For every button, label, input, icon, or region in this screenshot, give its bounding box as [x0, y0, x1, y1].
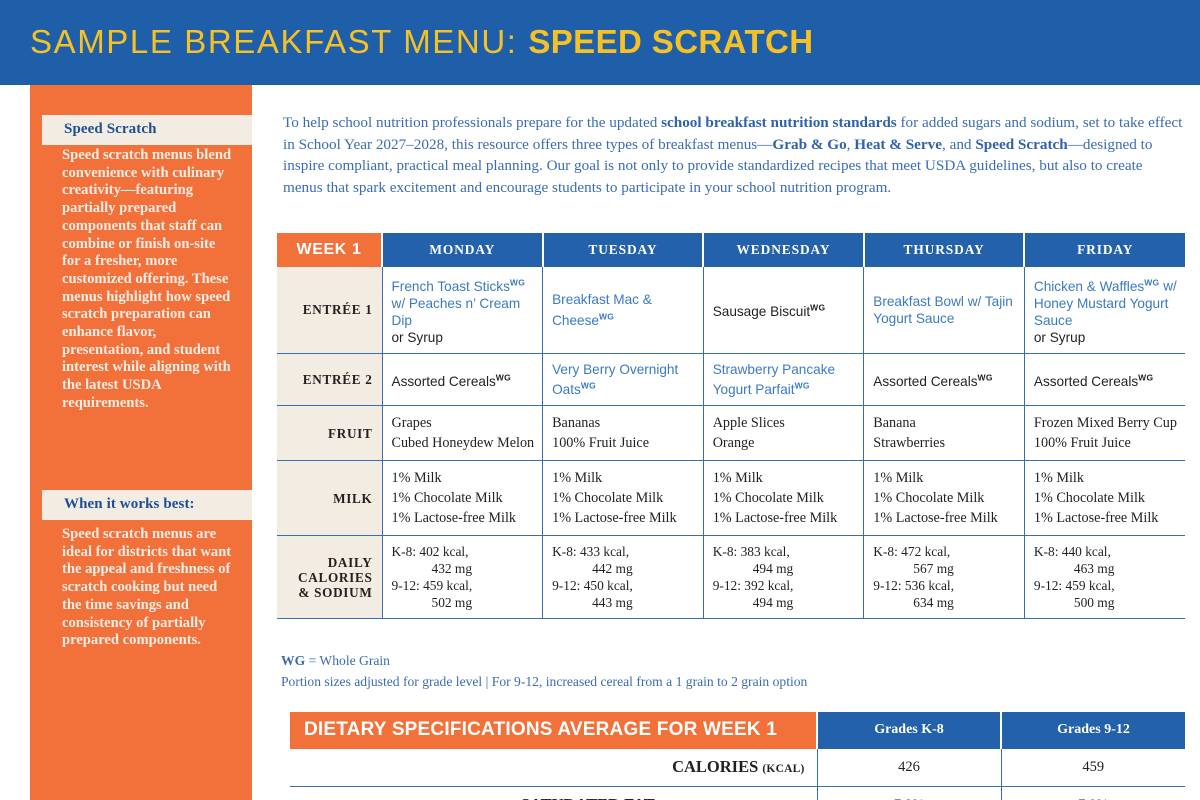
menu-row-entr-e-1: ENTRÉE 1French Toast SticksWG w/ Peaches…	[277, 267, 1185, 353]
menu-cell: 1% Milk1% Chocolate Milk1% Lactose-free …	[1024, 461, 1185, 536]
nutrition-k8-sodium: 494 mg	[713, 560, 859, 577]
nutrition-k8-sodium: 432 mg	[392, 560, 538, 577]
menu-item-text: or Syrup	[1034, 330, 1085, 345]
menu-row-daily-calories-sodium: DAILYCALORIES& SODIUMK-8: 402 kcal,432 m…	[277, 536, 1185, 619]
nutrition-k8-sodium: 442 mg	[552, 560, 698, 577]
menu-cell: K-8: 472 kcal,567 mg9-12: 536 kcal,634 m…	[864, 536, 1025, 619]
menu-cell: K-8: 383 kcal,494 mg9-12: 392 kcal,494 m…	[703, 536, 864, 619]
menu-item-text: 1% Chocolate Milk	[1034, 490, 1145, 506]
menu-item-text: Grapes	[392, 415, 432, 431]
menu-cell: Apple SlicesOrange	[703, 406, 864, 461]
menu-row-entr-e-2: ENTRÉE 2Assorted CerealsWGVery Berry Ove…	[277, 353, 1185, 406]
row-label: FRUIT	[277, 406, 382, 461]
footnote-portion-text: Portion sizes adjusted for grade level	[281, 674, 482, 689]
whole-grain-superscript: WG	[978, 372, 993, 382]
spec-column-header-912: Grades 9-12	[1001, 712, 1185, 749]
nutrition-912-kcal: 9-12: 392 kcal,	[713, 577, 859, 594]
nutrition-k8-kcal: K-8: 383 kcal,	[713, 543, 859, 560]
sidebar-body-speed-scratch: Speed scratch menus blend convenience wi…	[62, 147, 232, 413]
menu-item-text: 1% Lactose-free Milk	[392, 510, 516, 526]
menu-row-milk: MILK1% Milk1% Chocolate Milk1% Lactose-f…	[277, 461, 1185, 536]
whole-grain-superscript: WG	[510, 277, 525, 287]
row-label: ENTRÉE 2	[277, 353, 382, 406]
nutrition-912-sodium: 502 mg	[392, 594, 538, 611]
menu-item-text: 1% Chocolate Milk	[713, 490, 824, 506]
nutrition-k8-kcal: K-8: 402 kcal,	[392, 543, 538, 560]
page-title: SAMPLE BREAKFAST MENU: SPEED SCRATCH	[30, 21, 813, 63]
menu-cell: Assorted CerealsWG	[864, 353, 1025, 406]
nutrition-k8-kcal: K-8: 440 kcal,	[1034, 543, 1180, 560]
column-header-monday: MONDAY	[382, 233, 543, 267]
nutrition-912-kcal: 9-12: 459 kcal,	[1034, 577, 1180, 594]
footnote-whole-grain-key: WG = Whole Grain	[281, 650, 807, 671]
footnote-wg-abbrev: WG	[281, 653, 305, 668]
menu-cell: Bananas100% Fruit Juice	[543, 406, 704, 461]
menu-cell: 1% Milk1% Chocolate Milk1% Lactose-free …	[382, 461, 543, 536]
menu-item-text: 1% Milk	[1034, 470, 1084, 486]
menu-cell: Assorted CerealsWG	[382, 353, 543, 406]
menu-item-text: Apple Slices	[713, 415, 785, 431]
menu-cell: Breakfast Bowl w/ Tajin Yogurt Sauce	[864, 267, 1025, 353]
spec-row-unit: (KCAL)	[762, 763, 804, 775]
whole-grain-superscript: WG	[496, 372, 511, 382]
menu-item-text: 1% Milk	[392, 470, 442, 486]
menu-item-text: 1% Lactose-free Milk	[1034, 510, 1158, 526]
spec-value-912: 459	[1001, 749, 1185, 787]
menu-cell: K-8: 433 kcal,442 mg9-12: 450 kcal,443 m…	[543, 536, 704, 619]
menu-cell: Strawberry Pancake Yogurt ParfaitWG	[703, 353, 864, 406]
intro-paragraph: To help school nutrition professionals p…	[283, 112, 1183, 198]
footnote-separator: |	[486, 674, 489, 689]
menu-cell: K-8: 402 kcal,432 mg9-12: 459 kcal,502 m…	[382, 536, 543, 619]
menu-item-link[interactable]: Chicken & WafflesWG	[1034, 279, 1160, 294]
menu-item-link[interactable]: Breakfast Bowl w/ Tajin Yogurt Sauce	[873, 294, 1013, 326]
page-header-band: SAMPLE BREAKFAST MENU: SPEED SCRATCH	[0, 0, 1200, 85]
menu-item-text: 1% Lactose-free Milk	[713, 510, 837, 526]
menu-item-text: 1% Milk	[552, 470, 602, 486]
menu-item-text: 1% Chocolate Milk	[392, 490, 503, 506]
sidebar-heading-when-it-works-best: When it works best:	[42, 490, 252, 520]
menu-cell: GrapesCubed Honeydew Melon	[382, 406, 543, 461]
nutrition-k8-sodium: 463 mg	[1034, 560, 1180, 577]
nutrition-912-sodium: 494 mg	[713, 594, 859, 611]
menu-item-text: Bananas	[552, 415, 600, 431]
menu-cell: Assorted CerealsWG	[1024, 353, 1185, 406]
footnotes: WG = Whole Grain Portion sizes adjusted …	[281, 650, 807, 692]
column-header-tuesday: TUESDAY	[543, 233, 704, 267]
column-header-thursday: THURSDAY	[864, 233, 1025, 267]
week-badge: WEEK 1	[277, 233, 382, 267]
menu-cell: Sausage BiscuitWG	[703, 267, 864, 353]
menu-item-text: 100% Fruit Juice	[1034, 435, 1131, 451]
row-label: DAILYCALORIES& SODIUM	[277, 536, 382, 619]
menu-cell: Chicken & WafflesWG w/ Honey Mustard Yog…	[1024, 267, 1185, 353]
menu-item-text: 1% Chocolate Milk	[552, 490, 663, 506]
menu-cell: Breakfast Mac & CheeseWG	[543, 267, 704, 353]
row-label: MILK	[277, 461, 382, 536]
menu-item-link[interactable]: w/ Peaches n’ Cream Dip	[392, 296, 521, 328]
menu-item-text: Banana	[873, 415, 916, 431]
spec-table-title: DIETARY SPECIFICATIONS AVERAGE FOR WEEK …	[290, 712, 817, 749]
menu-item-text: Strawberries	[873, 435, 945, 451]
whole-grain-superscript: WG	[599, 311, 614, 321]
spec-value-k8: 7.8%	[817, 787, 1001, 800]
nutrition-912-sodium: 634 mg	[873, 594, 1019, 611]
menu-item-text: Orange	[713, 435, 755, 451]
menu-page: SAMPLE BREAKFAST MENU: SPEED SCRATCH Spe…	[0, 0, 1200, 800]
spec-row-label: SATURATED FAT (% OF TOTAL CALORIES)	[290, 787, 817, 800]
nutrition-912-kcal: 9-12: 536 kcal,	[873, 577, 1019, 594]
menu-item-text: 1% Lactose-free Milk	[873, 510, 997, 526]
weekly-menu-table: WEEK 1 MONDAY TUESDAY WEDNESDAY THURSDAY…	[277, 233, 1185, 619]
menu-item-link[interactable]: Very Berry Overnight OatsWG	[552, 362, 678, 398]
menu-cell: Very Berry Overnight OatsWG	[543, 353, 704, 406]
spec-row-name: SATURATED FAT	[521, 795, 655, 800]
menu-item-link[interactable]: Strawberry Pancake Yogurt ParfaitWG	[713, 362, 835, 398]
menu-cell: 1% Milk1% Chocolate Milk1% Lactose-free …	[864, 461, 1025, 536]
spec-row: CALORIES (KCAL)426459	[290, 749, 1185, 787]
page-title-light: SAMPLE BREAKFAST MENU:	[30, 23, 518, 60]
menu-item-text: 100% Fruit Juice	[552, 435, 649, 451]
menu-cell: Frozen Mixed Berry Cup100% Fruit Juice	[1024, 406, 1185, 461]
nutrition-k8-kcal: K-8: 472 kcal,	[873, 543, 1019, 560]
menu-row-fruit: FRUITGrapesCubed Honeydew MelonBananas10…	[277, 406, 1185, 461]
menu-cell: 1% Milk1% Chocolate Milk1% Lactose-free …	[703, 461, 864, 536]
menu-item-text: 1% Milk	[873, 470, 923, 486]
spec-row-name: CALORIES	[672, 757, 758, 776]
menu-item-text: 1% Chocolate Milk	[873, 490, 984, 506]
sidebar-body-when-it-works-best: Speed scratch menus are ideal for distri…	[62, 526, 238, 650]
menu-item-link[interactable]: Breakfast Mac & CheeseWG	[552, 292, 652, 328]
spec-table-header-row: DIETARY SPECIFICATIONS AVERAGE FOR WEEK …	[290, 712, 1185, 749]
menu-item-text: Assorted CerealsWG	[392, 374, 512, 389]
nutrition-912-sodium: 443 mg	[552, 594, 698, 611]
footnote-cereal-text: For 9-12, increased cereal from a 1 grai…	[492, 674, 808, 689]
column-header-wednesday: WEDNESDAY	[703, 233, 864, 267]
menu-item-text: or Syrup	[392, 330, 443, 345]
menu-item-link[interactable]: French Toast SticksWG	[392, 279, 526, 294]
menu-table-header-row: WEEK 1 MONDAY TUESDAY WEDNESDAY THURSDAY…	[277, 233, 1185, 267]
spec-value-k8: 426	[817, 749, 1001, 787]
spec-table-body: CALORIES (KCAL)426459SATURATED FAT (% OF…	[290, 749, 1185, 800]
menu-cell: BananaStrawberries	[864, 406, 1025, 461]
nutrition-912-kcal: 9-12: 459 kcal,	[392, 577, 538, 594]
spec-column-header-k8: Grades K-8	[817, 712, 1001, 749]
whole-grain-superscript: WG	[810, 303, 825, 313]
nutrition-k8-sodium: 567 mg	[873, 560, 1019, 577]
menu-item-text: Sausage BiscuitWG	[713, 304, 826, 319]
menu-cell: 1% Milk1% Chocolate Milk1% Lactose-free …	[543, 461, 704, 536]
spec-value-912: 7.0%	[1001, 787, 1185, 800]
menu-item-text: Assorted CerealsWG	[873, 374, 993, 389]
menu-item-text: 1% Lactose-free Milk	[552, 510, 676, 526]
menu-table-body: ENTRÉE 1French Toast SticksWG w/ Peaches…	[277, 267, 1185, 619]
whole-grain-superscript: WG	[795, 381, 810, 391]
nutrition-k8-kcal: K-8: 433 kcal,	[552, 543, 698, 560]
menu-item-text: Frozen Mixed Berry Cup	[1034, 415, 1177, 431]
spec-row-label: CALORIES (KCAL)	[290, 749, 817, 787]
sidebar-heading-speed-scratch: Speed Scratch	[42, 115, 252, 145]
sidebar: Speed Scratch Speed scratch menus blend …	[30, 85, 252, 800]
dietary-specifications-table: DIETARY SPECIFICATIONS AVERAGE FOR WEEK …	[290, 712, 1185, 800]
spec-row: SATURATED FAT (% OF TOTAL CALORIES)7.8%7…	[290, 787, 1185, 800]
menu-item-text: Assorted CerealsWG	[1034, 374, 1154, 389]
footnote-wg-rest: = Whole Grain	[305, 653, 390, 668]
menu-item-text: Cubed Honeydew Melon	[392, 435, 535, 451]
menu-item-text: 1% Milk	[713, 470, 763, 486]
page-title-bold: SPEED SCRATCH	[528, 23, 813, 60]
nutrition-912-sodium: 500 mg	[1034, 594, 1180, 611]
nutrition-912-kcal: 9-12: 450 kcal,	[552, 577, 698, 594]
column-header-friday: FRIDAY	[1024, 233, 1185, 267]
footnote-portion-sizes: Portion sizes adjusted for grade level |…	[281, 671, 807, 692]
whole-grain-superscript: WG	[581, 381, 596, 391]
row-label: ENTRÉE 1	[277, 267, 382, 353]
menu-cell: K-8: 440 kcal,463 mg9-12: 459 kcal,500 m…	[1024, 536, 1185, 619]
whole-grain-superscript: WG	[1138, 372, 1153, 382]
whole-grain-superscript: WG	[1144, 277, 1159, 287]
menu-cell: French Toast SticksWG w/ Peaches n’ Crea…	[382, 267, 543, 353]
